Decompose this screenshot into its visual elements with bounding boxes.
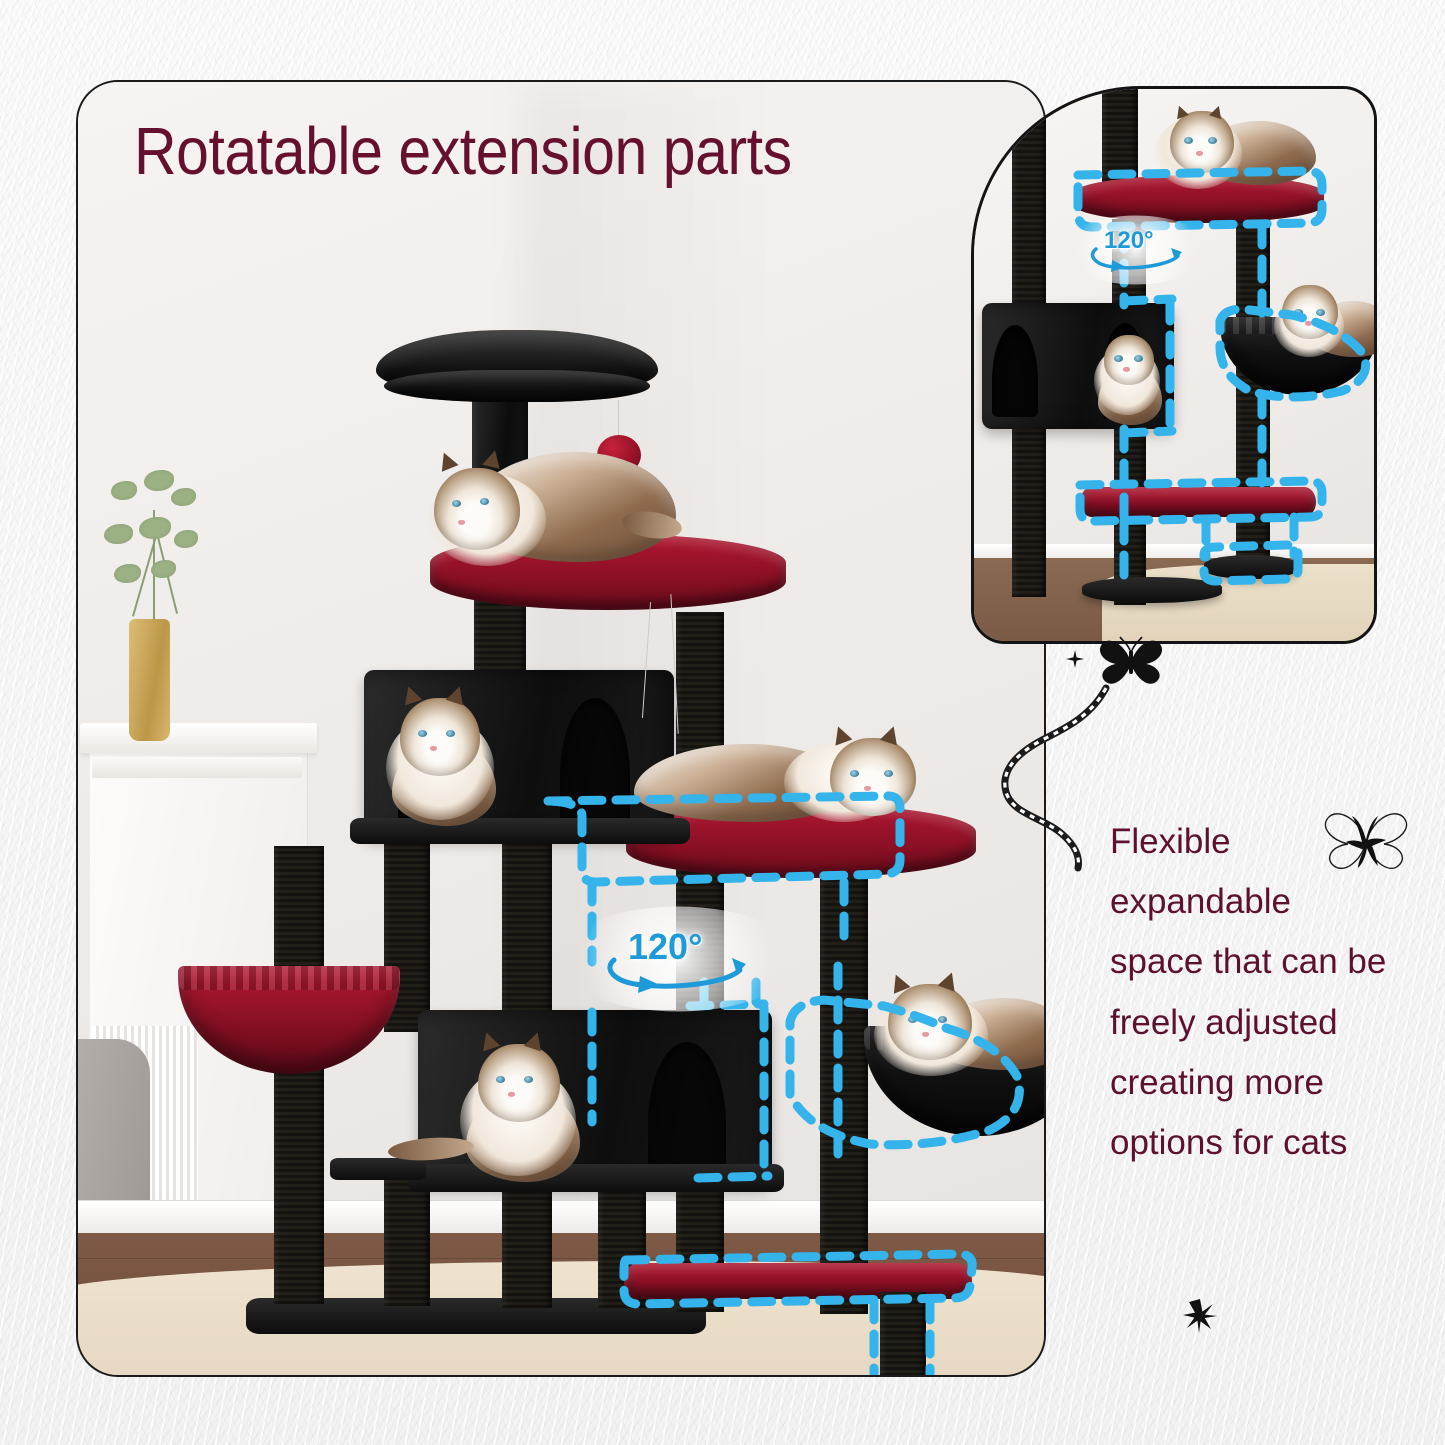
inset-rotatable-outlines [974,89,1374,641]
feature-line-3: space that can be [1110,932,1430,992]
rotation-badge-label-main: 120° [628,926,702,968]
inset-angled-photo: 120° [971,86,1377,644]
rotatable-part-outlines [78,82,1044,1375]
feature-line-2: expandable [1110,872,1430,932]
outline-bottom-shelf [624,1254,972,1304]
feature-description: Flexible expandable space that can be fr… [1110,812,1430,1173]
inset-outline-bottom-shelf [1080,481,1322,521]
rotation-badge-main: 120° [598,924,758,994]
page-title: Rotatable extension parts [134,118,792,185]
outline-lower-condo-bottom [698,1176,768,1178]
inset-outline-hammock [1220,309,1366,397]
outline-bottom-post [874,1300,930,1377]
feature-line-1: Flexible [1110,812,1430,872]
feature-line-5: creating more [1110,1053,1430,1113]
inset-outline-foot [1204,545,1298,581]
chain-trail [988,688,1118,868]
rotation-badge-label-inset: 120° [1104,227,1154,255]
butterfly-icon [1094,634,1168,688]
main-product-photo: 120° [76,80,1046,1377]
rotation-badge-inset: 120° [1086,227,1186,273]
star-sparkle-icon [1183,1299,1217,1333]
outline-black-hammock [790,1000,1019,1145]
inset-outline-condo-bottom [1124,431,1172,433]
outline-middle-platform [548,796,900,882]
inset-outline-condo-top [1124,299,1172,301]
feature-line-6: options for cats [1110,1113,1430,1173]
sparkle-icon [1066,650,1084,668]
feature-line-4: freely adjusted [1110,993,1430,1053]
